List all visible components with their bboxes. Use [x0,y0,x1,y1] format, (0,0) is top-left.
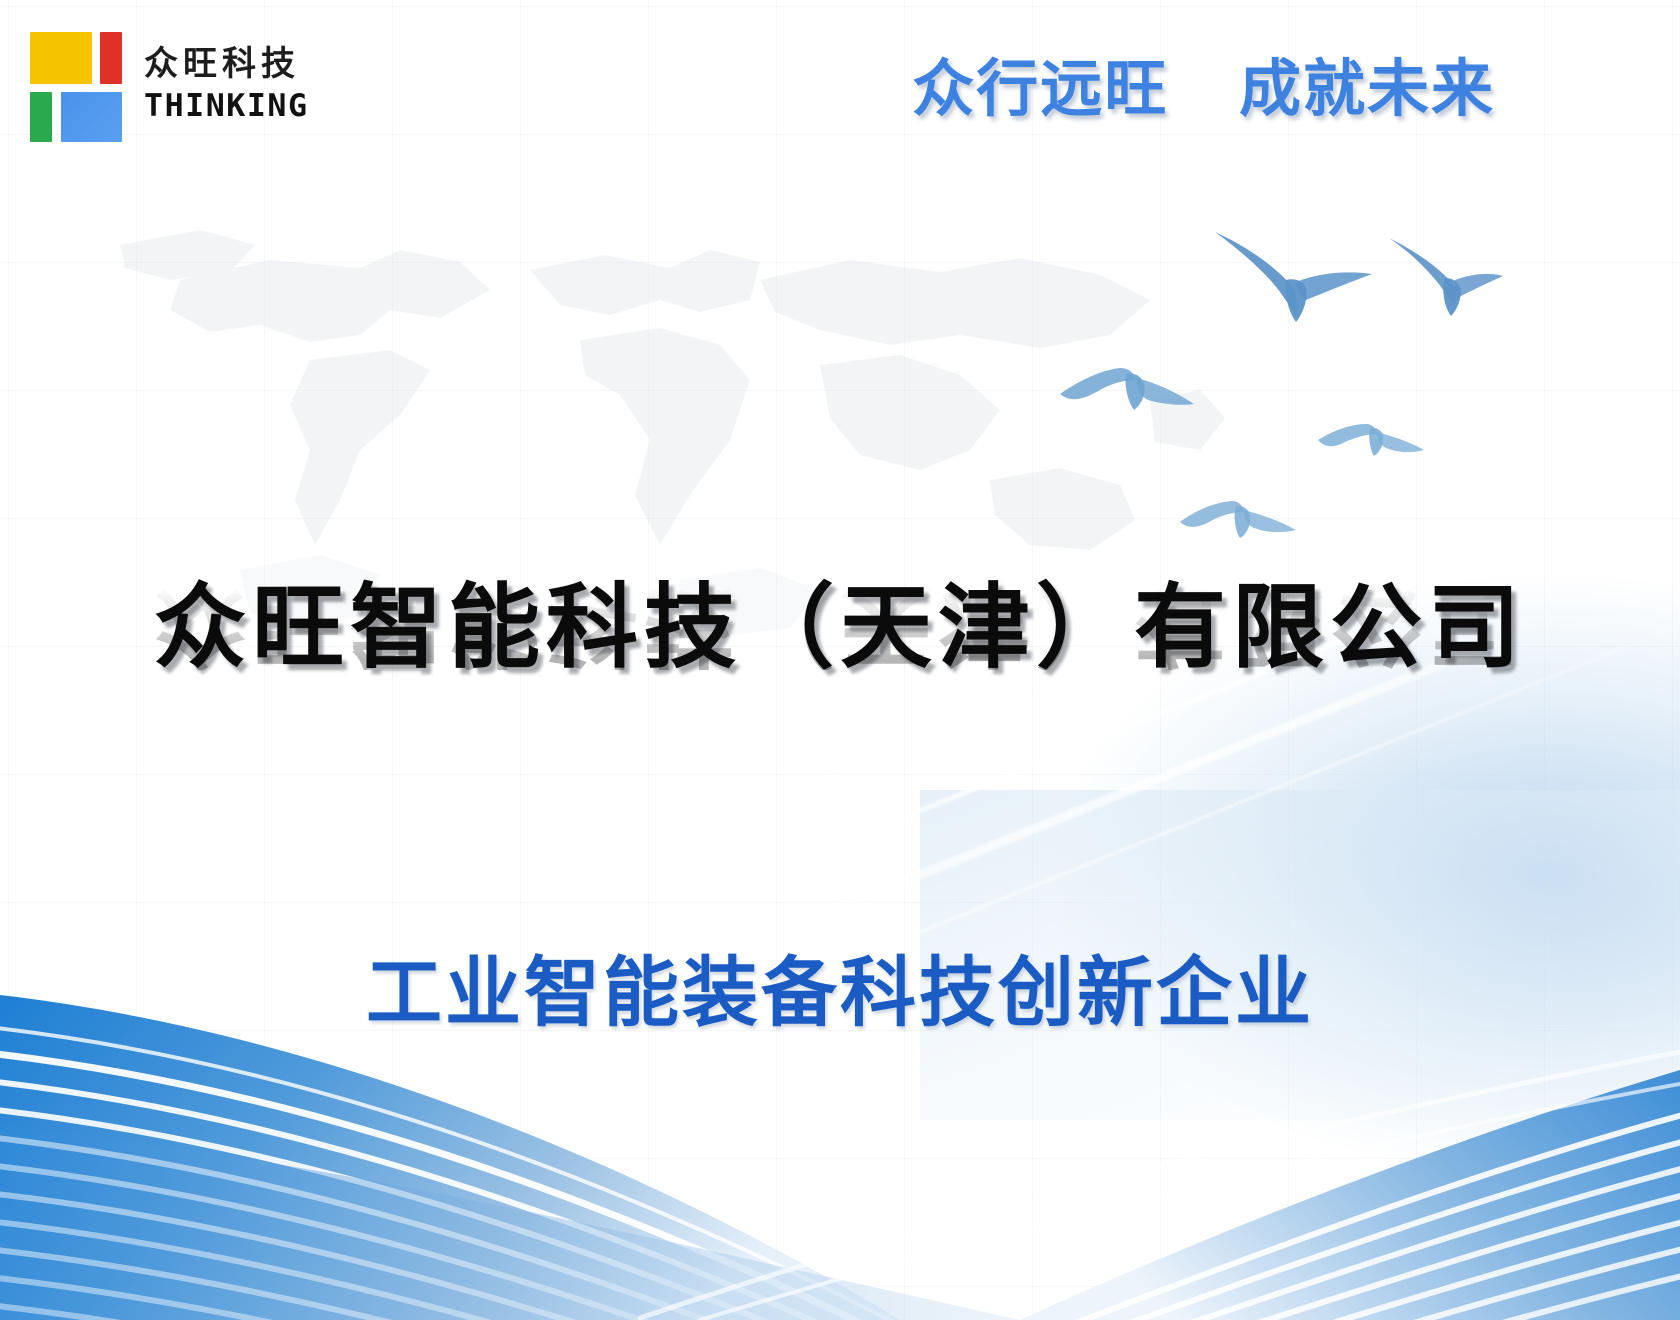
logo-square-blue [61,92,122,142]
header-tagline: 众行远旺 成就未来 [912,58,1495,120]
logo-name-chinese: 众旺科技 [144,47,305,81]
four-square-logo-icon [30,28,126,140]
seagull-icon [1178,492,1298,554]
seagull-icon [1210,222,1380,332]
company-subtitle: 工业智能装备科技创新企业 [0,955,1680,1031]
title-zone: 众旺智能科技（天津）有限公司 众旺智能科技（天津）有限公司 [0,580,1680,765]
seagull-icon [1058,360,1198,440]
seagull-icon [1316,416,1426,474]
company-title: 众旺智能科技（天津）有限公司 [0,580,1680,676]
logo-bar-red [100,32,122,84]
logo-bar-green [30,92,52,142]
logo-square-yellow [30,32,92,84]
presentation-slide: 众旺科技 THINKING 众行远旺 成就未来 众旺智能科技（天津）有限公司 众… [0,0,1680,1320]
slide-header: 众旺科技 THINKING 众行远旺 成就未来 [0,0,1680,190]
logo-name-english: THINKING [144,91,309,122]
logo-wordmark: 众旺科技 THINKING [144,47,305,122]
seagull-icon [1385,232,1505,318]
company-logo[interactable]: 众旺科技 THINKING [30,28,305,140]
